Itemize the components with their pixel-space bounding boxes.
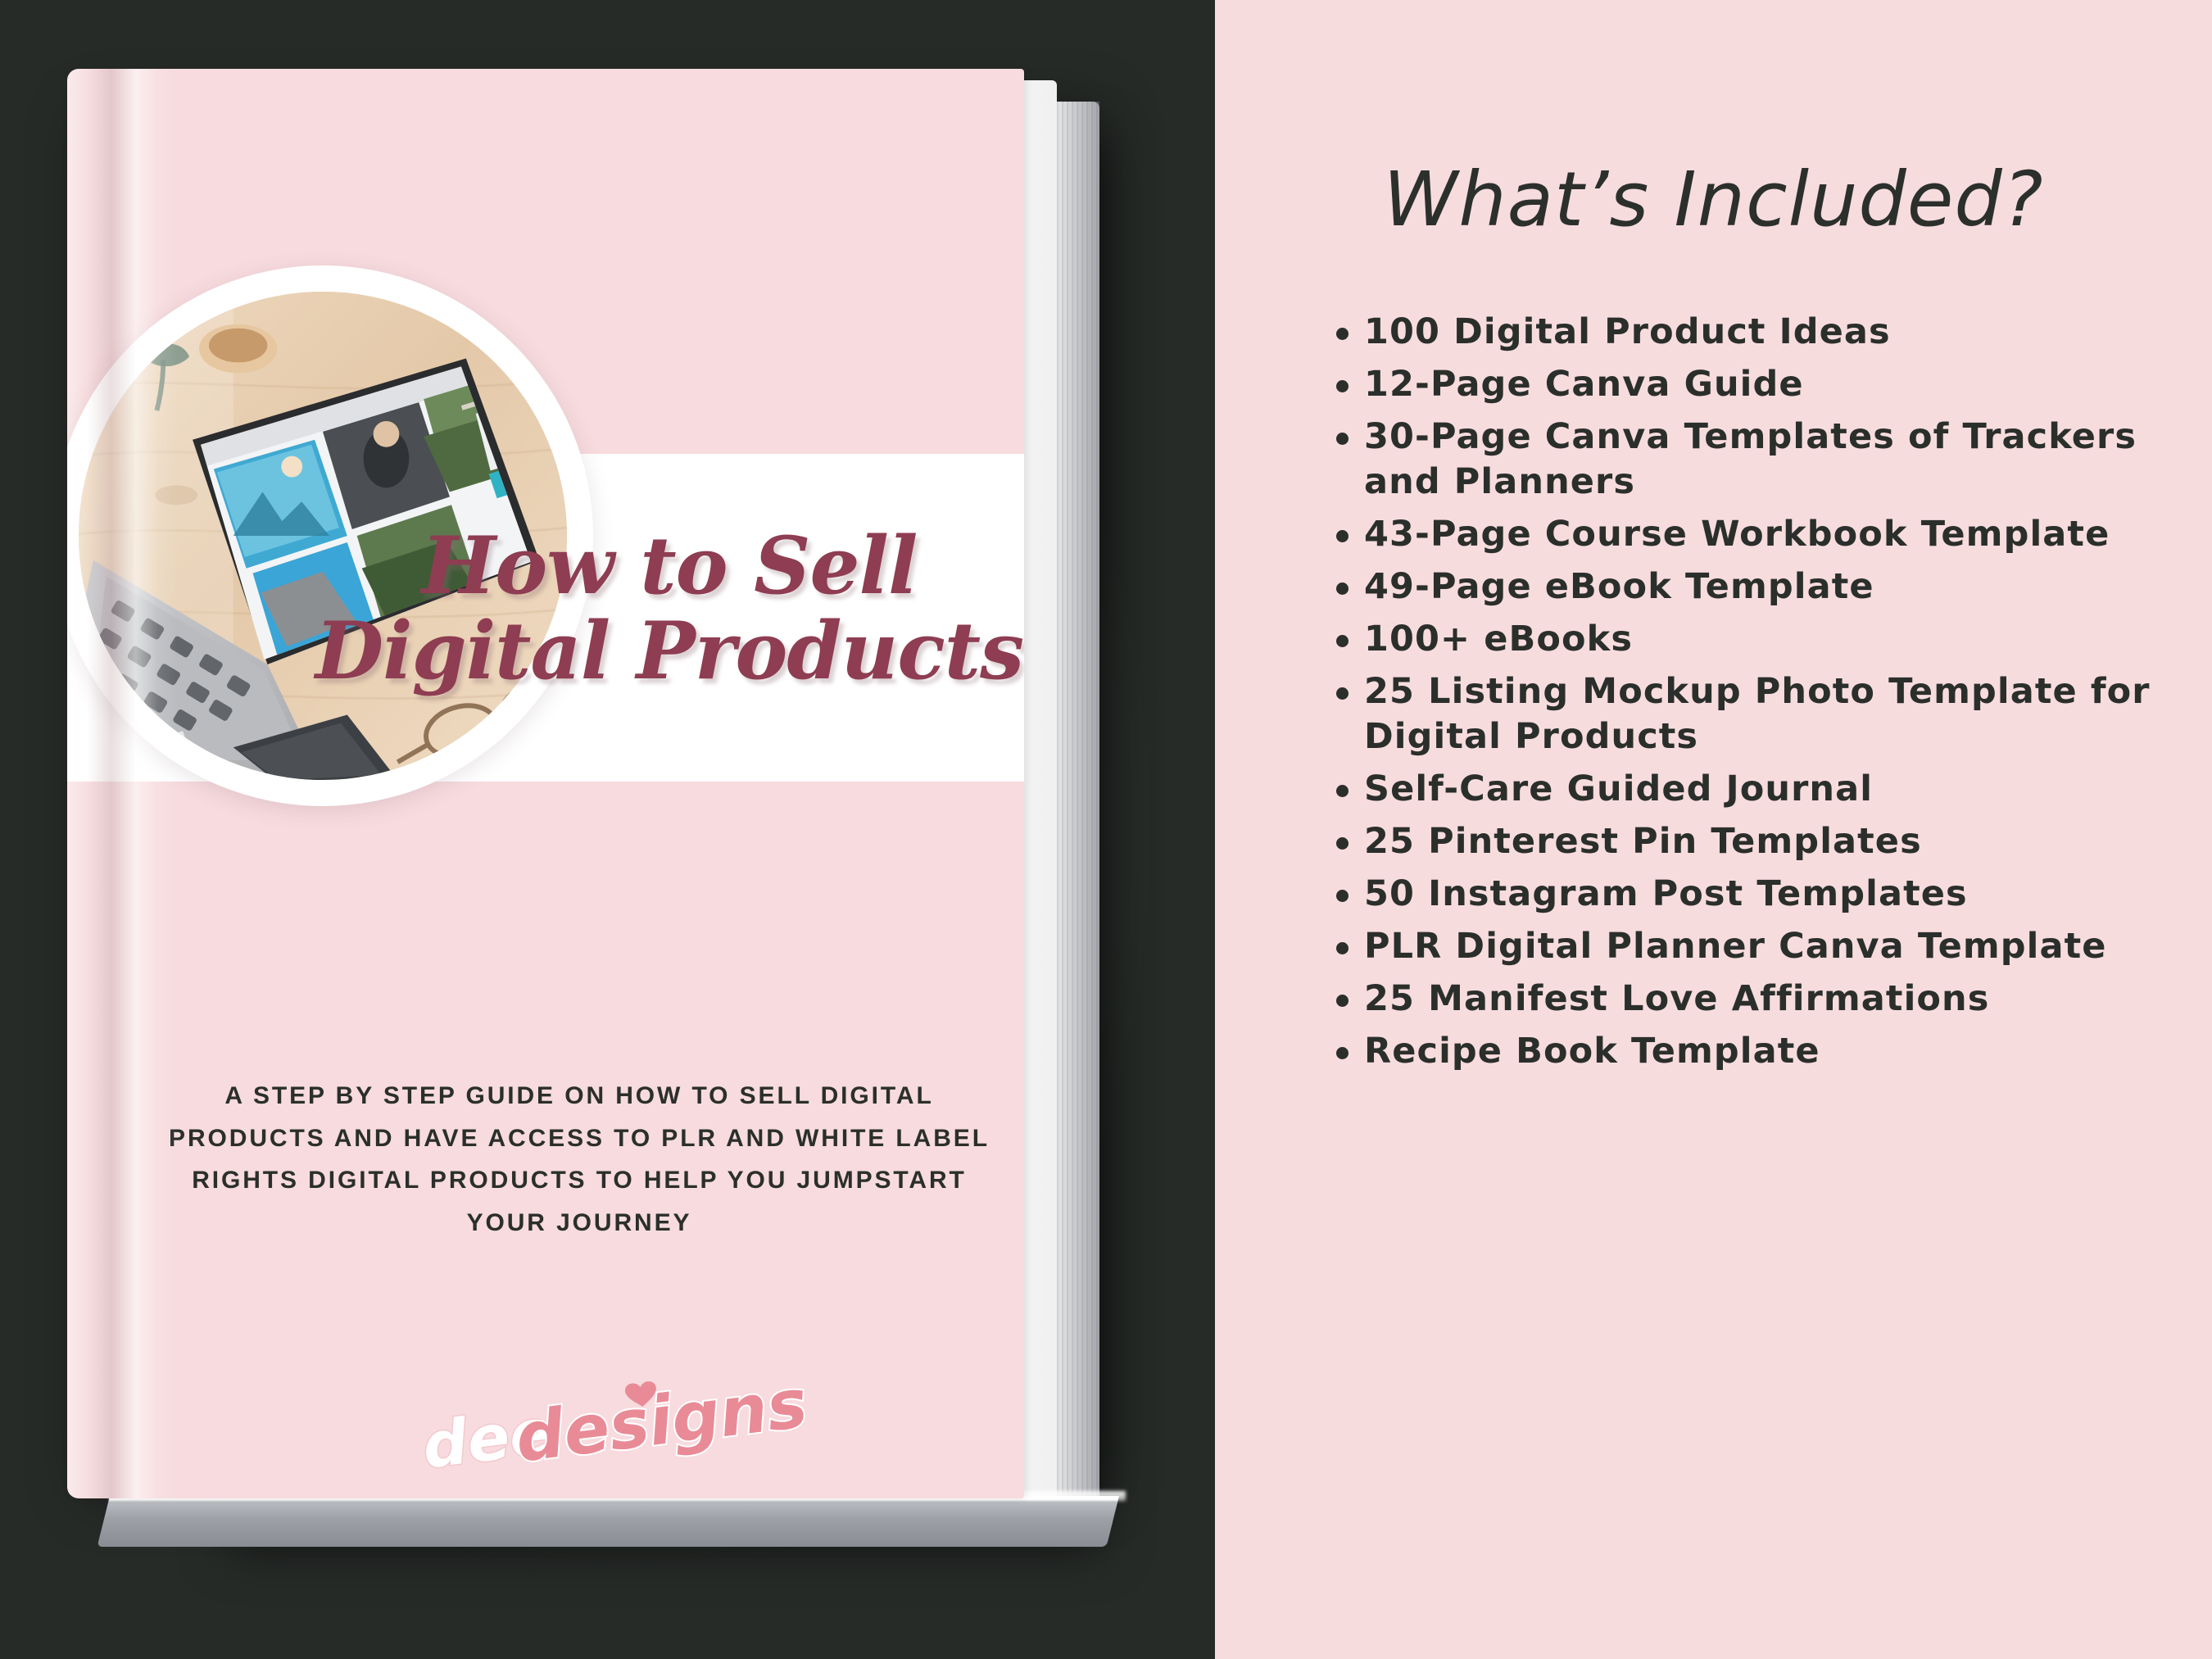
included-list-item-label: 25 Manifest Love Affirmations bbox=[1364, 978, 1989, 1019]
included-list-item: 50 Instagram Post Templates bbox=[1331, 872, 2208, 917]
included-list-item-label: 12-Page Canva Guide bbox=[1364, 364, 1804, 405]
bullet-icon bbox=[1336, 582, 1349, 595]
book-title-line-1: How to Sell bbox=[313, 524, 1024, 609]
bullet-icon bbox=[1336, 635, 1349, 647]
included-list-item-label: Self-Care Guided Journal bbox=[1364, 768, 1873, 809]
included-list-item-label: 30-Page Canva Templates of Trackers and … bbox=[1364, 416, 2137, 502]
included-list-item-label: 49-Page eBook Template bbox=[1364, 566, 1874, 607]
included-list-item: 12-Page Canva Guide bbox=[1331, 362, 2208, 407]
svg-text:designs: designs bbox=[511, 1365, 811, 1478]
book-base-3d bbox=[97, 1496, 1119, 1547]
bullet-icon bbox=[1336, 785, 1349, 797]
bullet-icon bbox=[1336, 530, 1349, 542]
included-list-item: Recipe Book Template bbox=[1331, 1029, 2208, 1074]
included-list-item-label: Recipe Book Template bbox=[1364, 1031, 1820, 1072]
included-list-item-label: 100 Digital Product Ideas bbox=[1364, 311, 1891, 352]
included-items-list: 100 Digital Product Ideas12-Page Canva G… bbox=[1331, 310, 2208, 1081]
bullet-icon bbox=[1336, 433, 1349, 445]
included-list-item-label: 43-Page Course Workbook Template bbox=[1364, 514, 2110, 555]
included-list-item: 30-Page Canva Templates of Trackers and … bbox=[1331, 415, 2208, 505]
included-list-item: 43-Page Course Workbook Template bbox=[1331, 512, 2208, 557]
included-list-item-label: PLR Digital Planner Canva Template bbox=[1364, 926, 2107, 967]
included-list-item-label: 25 Listing Mockup Photo Template for Dig… bbox=[1364, 671, 2151, 757]
bullet-icon bbox=[1336, 942, 1349, 954]
included-list-item-label: 50 Instagram Post Templates bbox=[1364, 873, 1968, 914]
book-cover-subtitle: A STEP BY STEP GUIDE ON HOW TO SELL DIGI… bbox=[165, 1075, 993, 1244]
included-list-item: 25 Manifest Love Affirmations bbox=[1331, 977, 2208, 1022]
left-dark-panel: How to Sell Digital Products A STEP BY S… bbox=[0, 0, 1215, 1659]
included-list-item: 25 Pinterest Pin Templates bbox=[1331, 819, 2208, 864]
bullet-icon bbox=[1336, 328, 1349, 340]
right-pink-panel: What’s Included? 100 Digital Product Ide… bbox=[1215, 0, 2212, 1659]
included-list-item: 100+ eBooks bbox=[1331, 617, 2208, 662]
dee-designs-logo: dee designs bbox=[411, 1363, 755, 1486]
book-title-line-2: Digital Products bbox=[313, 609, 1024, 694]
included-list-item: 49-Page eBook Template bbox=[1331, 564, 2208, 610]
ebook-mockup: How to Sell Digital Products A STEP BY S… bbox=[67, 69, 1099, 1511]
included-list-item: Self-Care Guided Journal bbox=[1331, 767, 2208, 812]
bullet-icon bbox=[1336, 837, 1349, 850]
included-list-item: 100 Digital Product Ideas bbox=[1331, 310, 2208, 355]
book-cover-title: How to Sell Digital Products bbox=[313, 524, 1024, 693]
bullet-icon bbox=[1336, 687, 1349, 700]
included-list-item-label: 100+ eBooks bbox=[1364, 619, 1633, 660]
book-front-cover: How to Sell Digital Products A STEP BY S… bbox=[67, 69, 1024, 1498]
included-list-item: 25 Listing Mockup Photo Template for Dig… bbox=[1331, 669, 2208, 759]
promo-graphic: How to Sell Digital Products A STEP BY S… bbox=[0, 0, 2212, 1659]
bullet-icon bbox=[1336, 1047, 1349, 1059]
bullet-icon bbox=[1336, 995, 1349, 1007]
logo-wordmark: dee designs bbox=[411, 1363, 755, 1486]
whats-included-heading: What’s Included? bbox=[1215, 156, 2212, 243]
included-list-item: PLR Digital Planner Canva Template bbox=[1331, 924, 2208, 969]
bullet-icon bbox=[1336, 890, 1349, 902]
included-list-item-label: 25 Pinterest Pin Templates bbox=[1364, 821, 1922, 862]
bullet-icon bbox=[1336, 380, 1349, 392]
book-spine-shading bbox=[67, 69, 178, 1498]
